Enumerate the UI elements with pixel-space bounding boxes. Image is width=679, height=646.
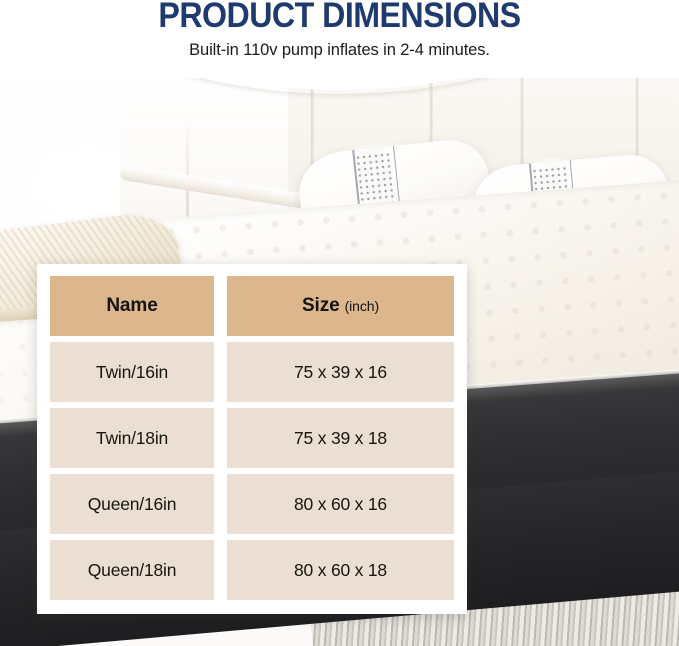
page-title: PRODUCT DIMENSIONS [27, 0, 652, 36]
table-cell-size: 75 x 39 x 16 [227, 342, 454, 402]
column-label-size-unit: (inch) [345, 298, 379, 314]
table-header-row: Name Size(inch) [50, 276, 454, 336]
table-cell-size: 80 x 60 x 18 [227, 540, 454, 600]
cell-value-size: 75 x 39 x 18 [294, 428, 387, 449]
cell-value-name: Queen/18in [88, 560, 177, 581]
table-row: Queen/16in 80 x 60 x 16 [50, 474, 454, 534]
cell-value-name: Twin/18in [96, 428, 168, 449]
table-cell-size: 75 x 39 x 18 [227, 408, 454, 468]
dimensions-table-card: Name Size(inch) Twin/16in 75 x 39 x 16 T… [37, 264, 467, 614]
table-cell-name: Twin/18in [50, 408, 214, 468]
header-band: PRODUCT DIMENSIONS Built-in 110v pump in… [0, 0, 679, 78]
page-subtitle: Built-in 110v pump inflates in 2-4 minut… [0, 41, 679, 60]
table-cell-name: Queen/18in [50, 540, 214, 600]
table-cell-name: Twin/16in [50, 342, 214, 402]
cell-value-size: 75 x 39 x 16 [294, 362, 387, 383]
table-header-size: Size(inch) [227, 276, 454, 336]
column-label-size: Size [302, 295, 340, 317]
table-cell-size: 80 x 60 x 16 [227, 474, 454, 534]
column-label-name: Name [106, 295, 157, 317]
table-cell-name: Queen/16in [50, 474, 214, 534]
table-row: Twin/16in 75 x 39 x 16 [50, 342, 454, 402]
cell-value-size: 80 x 60 x 16 [294, 494, 387, 515]
infographic-canvas: PRODUCT DIMENSIONS Built-in 110v pump in… [0, 0, 679, 646]
table-header-name: Name [50, 276, 214, 336]
table-row: Queen/18in 80 x 60 x 18 [50, 540, 454, 600]
cell-value-name: Twin/16in [96, 362, 168, 383]
cell-value-size: 80 x 60 x 18 [294, 560, 387, 581]
cell-value-name: Queen/16in [88, 494, 177, 515]
table-row: Twin/18in 75 x 39 x 18 [50, 408, 454, 468]
